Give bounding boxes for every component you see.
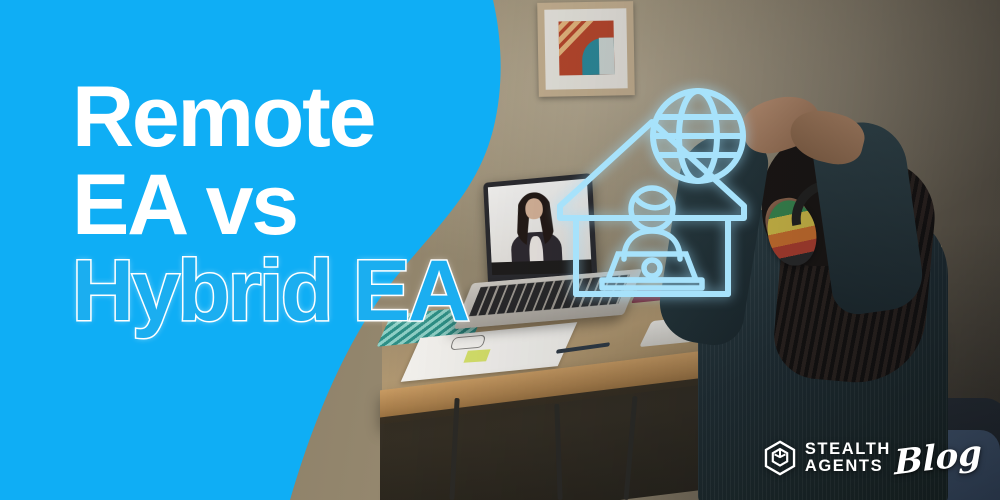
- headline-line-1: Remote: [72, 78, 732, 158]
- headline-block: Remote EA vs Hybrid EA: [72, 78, 732, 332]
- headline-line-3: Hybrid EA: [72, 252, 732, 332]
- hexagon-monogram-icon: [762, 440, 798, 476]
- logo-blog-script: Blog: [894, 433, 982, 484]
- logo-line-2: AGENTS: [805, 458, 891, 475]
- logo-line-1: STEALTH: [805, 441, 891, 458]
- logo-wordmark: STEALTH AGENTS: [805, 441, 891, 475]
- blog-banner: Remote EA vs Hybrid EA STEALTH AGENTS Bl…: [0, 0, 1000, 500]
- headline-line-2: EA vs: [72, 166, 732, 246]
- stealth-agents-blog-logo[interactable]: STEALTH AGENTS Blog: [762, 438, 982, 478]
